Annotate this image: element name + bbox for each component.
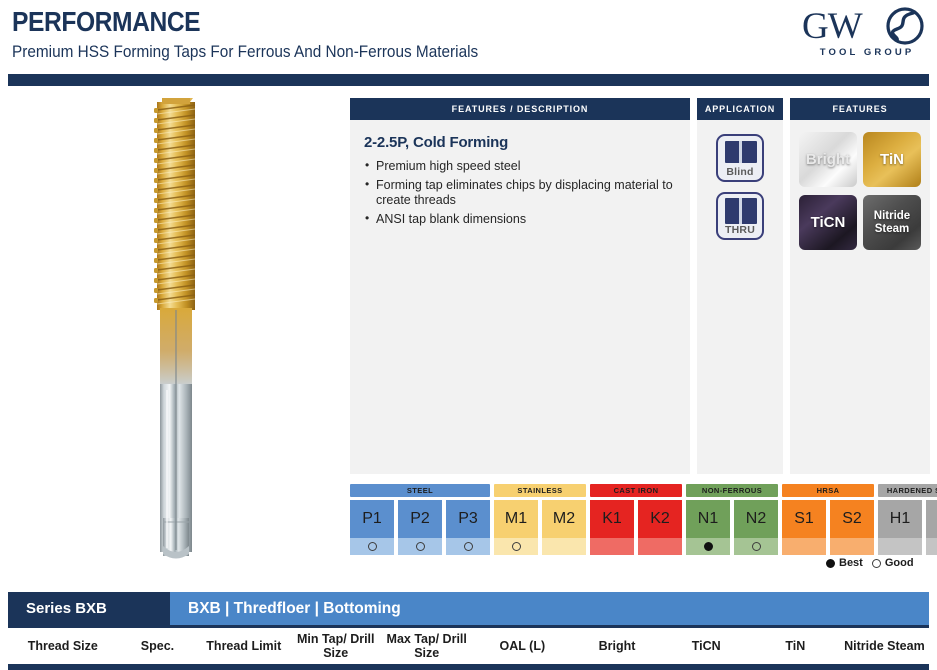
material-cell-n2[interactable]: N2 [734, 500, 778, 555]
best-dot-icon [704, 542, 713, 551]
material-code: P3 [446, 500, 490, 538]
coating-tile-tin: TiN [863, 132, 921, 187]
material-group-header: HARDENED STEEL [878, 484, 937, 497]
material-code: K2 [638, 500, 682, 538]
material-cell-h2[interactable]: H2 [926, 500, 937, 555]
coatings-features-panel: FEATURES Bright TiN TiCN Nitride Steam [790, 98, 930, 474]
feature-title: 2-2.5P, Cold Forming [364, 134, 678, 151]
best-dot-icon [826, 559, 835, 568]
good-dot-icon [464, 542, 473, 551]
material-group-header: STEEL [350, 484, 490, 497]
good-dot-icon [512, 542, 521, 551]
feature-bullet-list: Premium high speed steel Forming tap eli… [364, 159, 678, 227]
forming-tap-image [148, 98, 204, 560]
column-header-ticn[interactable]: TiCN [662, 628, 751, 664]
legend-best: Best [826, 557, 863, 569]
material-group-header: HRSA [782, 484, 874, 497]
material-rating-row [782, 538, 826, 555]
good-dot-icon [872, 559, 881, 568]
page-header: PERFORMANCE Premium HSS Forming Taps For… [0, 0, 937, 73]
column-header-nitride-steam[interactable]: Nitride Steam [840, 628, 929, 664]
page-title: PERFORMANCE [12, 6, 200, 38]
material-cell-h1[interactable]: H1 [878, 500, 922, 555]
material-group-hardened-steel: HARDENED STEELH1H2 [878, 484, 937, 554]
material-group-stainless: STAINLESSM1M2 [494, 484, 586, 554]
header-divider [8, 74, 929, 86]
coating-label: Nitride Steam [863, 210, 921, 236]
coating-label: TiN [880, 152, 904, 167]
blind-hole-label: Blind [718, 166, 762, 178]
series-label: Series BXB [8, 592, 170, 625]
material-suitability-grid: STEELP1P2P3STAINLESSM1M2CAST IRONK1K2NON… [350, 484, 930, 554]
material-rating-row [494, 538, 538, 555]
material-cell-p3[interactable]: P3 [446, 500, 490, 555]
material-cell-k1[interactable]: K1 [590, 500, 634, 555]
material-group-cast-iron: CAST IRONK1K2 [590, 484, 682, 554]
material-group-hrsa: HRSAS1S2 [782, 484, 874, 554]
material-code: M1 [494, 500, 538, 538]
material-code: N2 [734, 500, 778, 538]
thru-hole-label: THRU [718, 224, 762, 236]
material-rating-row [878, 538, 922, 555]
legend-good-label: Good [885, 557, 914, 569]
material-cell-m2[interactable]: M2 [542, 500, 586, 555]
coating-label: TiCN [811, 215, 846, 230]
material-group-steel: STEELP1P2P3 [350, 484, 490, 554]
series-description: BXB | Thredfloer | Bottoming [170, 592, 929, 625]
good-dot-icon [368, 542, 377, 551]
material-cell-p1[interactable]: P1 [350, 500, 394, 555]
brand-tagline: TOOL GROUP [805, 47, 929, 58]
legend-best-label: Best [839, 557, 863, 569]
list-item: ANSI tap blank dimensions [364, 212, 678, 228]
column-header-thread-limit[interactable]: Thread Limit [197, 628, 290, 664]
column-header-spec[interactable]: Spec. [118, 628, 198, 664]
material-rating-row [350, 538, 394, 555]
material-code: S1 [782, 500, 826, 538]
column-header-tin[interactable]: TiN [751, 628, 840, 664]
material-rating-row [398, 538, 442, 555]
material-rating-row [542, 538, 586, 555]
coating-tile-nitride-steam: Nitride Steam [863, 195, 921, 250]
svg-text:GW: GW [802, 6, 863, 46]
column-header-max-tap-drill-size[interactable]: Max Tap/ Drill Size [381, 628, 472, 664]
application-panel: APPLICATION Blind THRU [697, 98, 783, 474]
list-item: Premium high speed steel [364, 159, 678, 175]
table-bottom-rule [8, 664, 929, 670]
list-item: Forming tap eliminates chips by displaci… [364, 178, 678, 209]
material-rating-row [590, 538, 634, 555]
column-header-oal-l[interactable]: OAL (L) [472, 628, 572, 664]
features-panel-header: FEATURES / DESCRIPTION [350, 98, 690, 120]
rating-legend: Best Good [826, 557, 930, 569]
blind-hole-thread-line [739, 141, 742, 163]
column-header-thread-size[interactable]: Thread Size [8, 628, 118, 664]
material-group-header: STAINLESS [494, 484, 586, 497]
thru-hole-icon: THRU [716, 192, 764, 240]
material-code: K1 [590, 500, 634, 538]
good-dot-icon [416, 542, 425, 551]
material-cell-p2[interactable]: P2 [398, 500, 442, 555]
material-group-header: CAST IRON [590, 484, 682, 497]
material-rating-row [734, 538, 778, 555]
material-code: P1 [350, 500, 394, 538]
material-group-non-ferrous: NON-FERROUSN1N2 [686, 484, 778, 554]
material-rating-row [638, 538, 682, 555]
features-description-panel: FEATURES / DESCRIPTION 2-2.5P, Cold Form… [350, 98, 690, 474]
material-code: H2 [926, 500, 937, 538]
thru-hole-thread-line [739, 198, 742, 224]
legend-good: Good [872, 557, 914, 569]
material-cell-n1[interactable]: N1 [686, 500, 730, 555]
material-code: N1 [686, 500, 730, 538]
gws-wordmark-icon: GW [801, 6, 929, 46]
material-rating-row [830, 538, 874, 555]
good-dot-icon [752, 542, 761, 551]
coating-tile-ticn: TiCN [799, 195, 857, 250]
material-cell-s2[interactable]: S2 [830, 500, 874, 555]
material-group-header: NON-FERROUS [686, 484, 778, 497]
application-panel-header: APPLICATION [697, 98, 783, 120]
product-image-panel [0, 90, 345, 570]
coatings-panel-header: FEATURES [790, 98, 930, 120]
material-rating-row [446, 538, 490, 555]
coating-tile-bright: Bright [799, 132, 857, 187]
material-cell-m1[interactable]: M1 [494, 500, 538, 555]
column-header-bright[interactable]: Bright [572, 628, 661, 664]
material-cell-k2[interactable]: K2 [638, 500, 682, 555]
material-code: M2 [542, 500, 586, 538]
material-rating-row [686, 538, 730, 555]
coating-label: Bright [806, 152, 850, 167]
blind-hole-icon: Blind [716, 134, 764, 182]
material-code: S2 [830, 500, 874, 538]
material-rating-row [926, 538, 937, 555]
column-header-min-tap-drill-size[interactable]: Min Tap/ Drill Size [290, 628, 381, 664]
page-subtitle: Premium HSS Forming Taps For Ferrous And… [12, 43, 478, 62]
material-cell-s1[interactable]: S1 [782, 500, 826, 555]
material-code: P2 [398, 500, 442, 538]
material-code: H1 [878, 500, 922, 538]
series-bar: Series BXB BXB | Thredfloer | Bottoming [8, 592, 929, 625]
gws-tool-group-logo: GW TOOL GROUP [801, 6, 929, 64]
spec-table-header-row: Thread SizeSpec.Thread LimitMin Tap/ Dri… [8, 628, 929, 664]
